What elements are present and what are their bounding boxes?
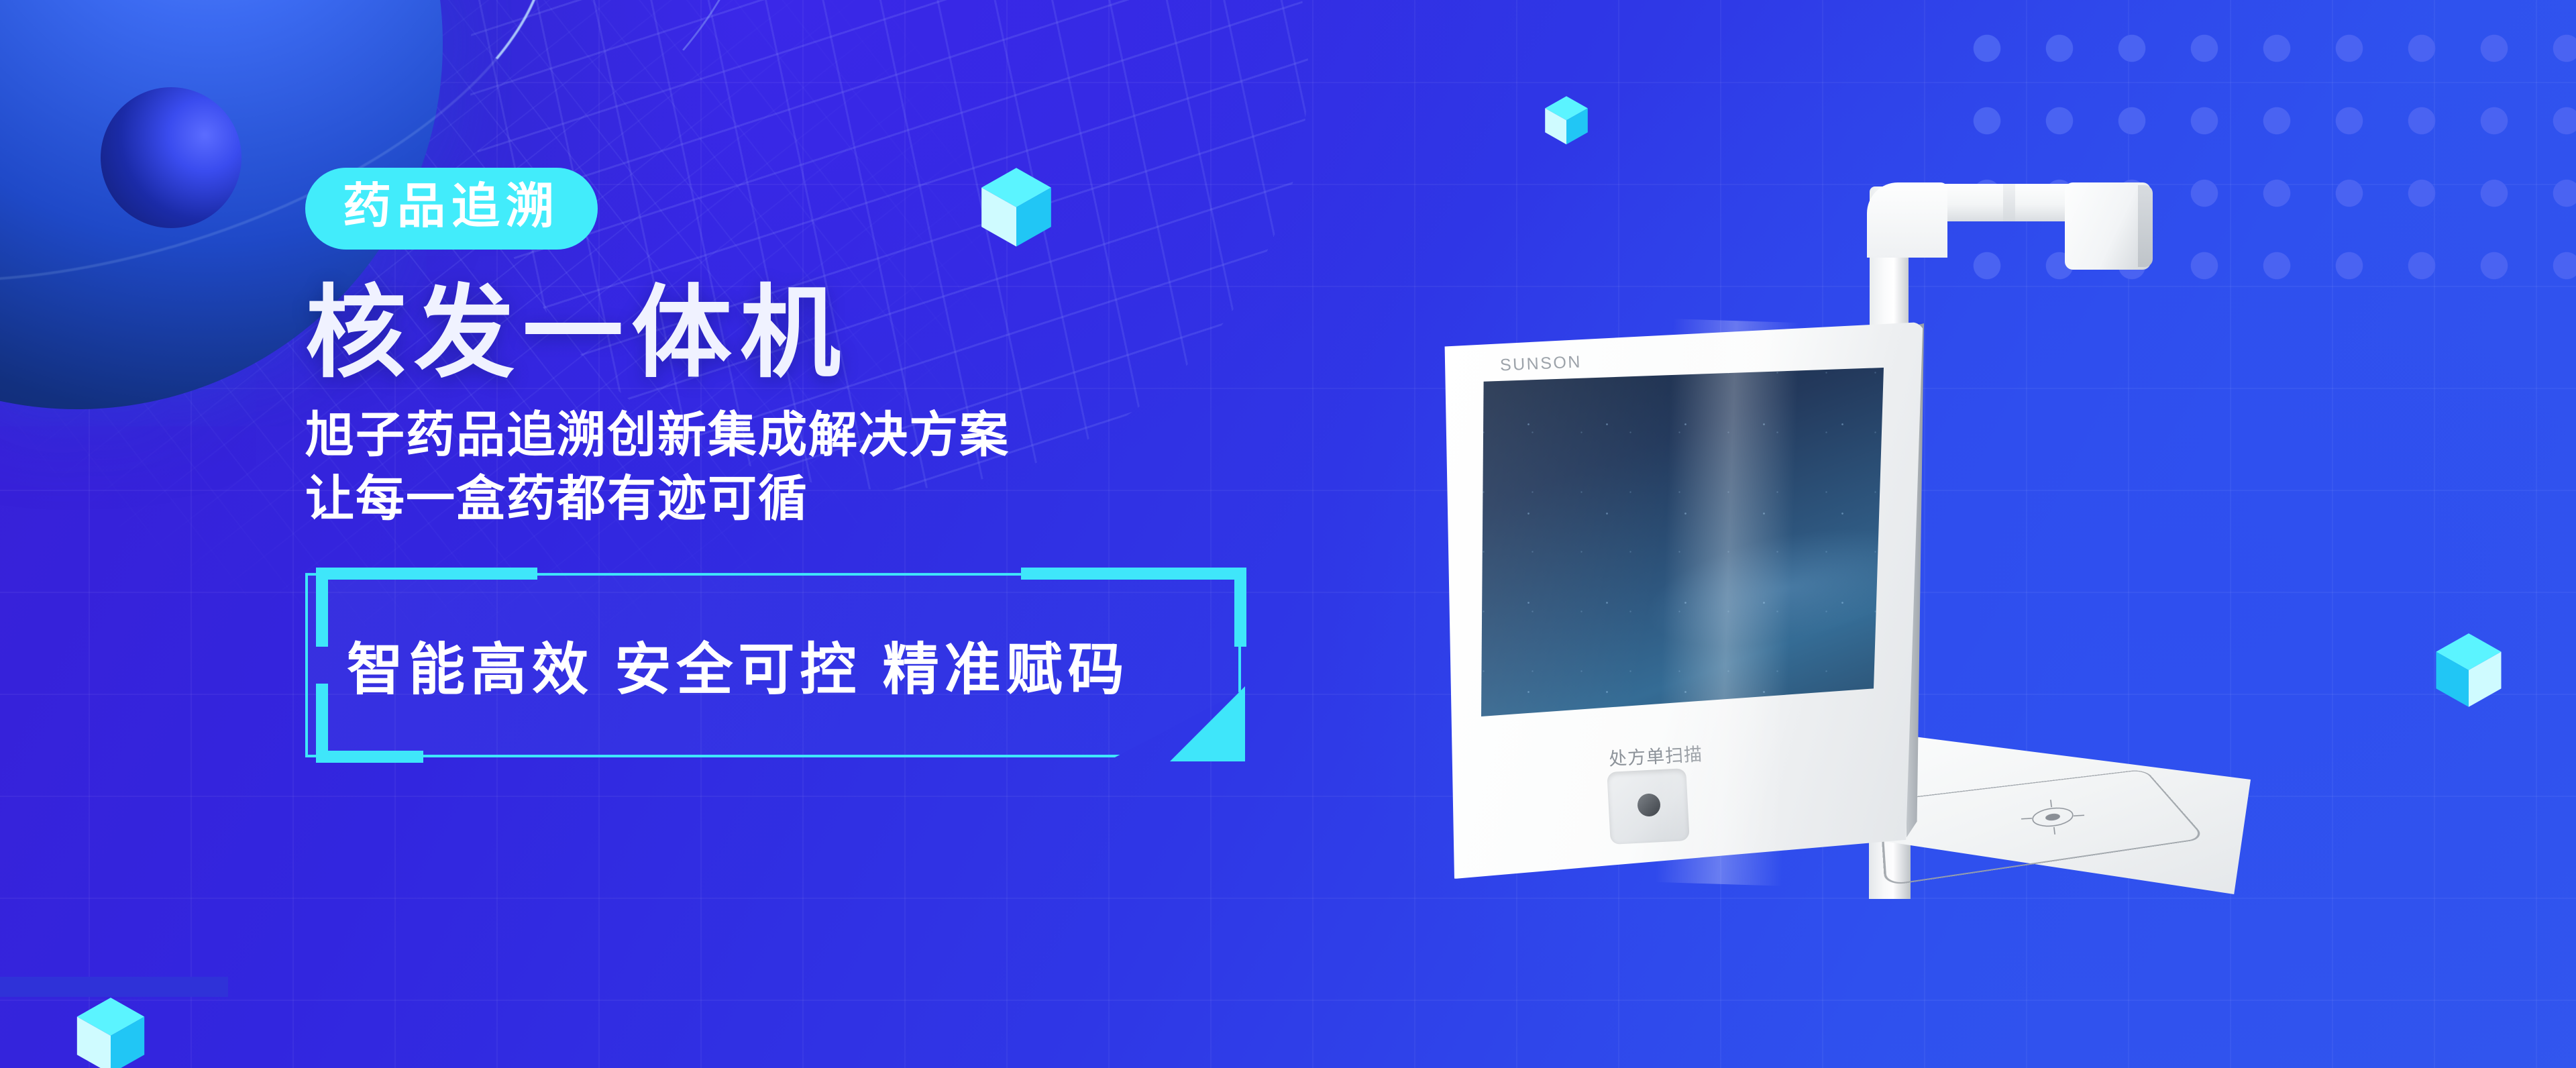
corner-accent-bottom-left-v [316, 684, 328, 763]
promo-banner: 药品追溯 核发一体机 旭子药品追溯创新集成解决方案 让每一盒药都有迹可循 智能高… [0, 0, 2576, 1068]
overhead-arm-joint [2003, 184, 2015, 221]
small-sphere [101, 87, 241, 228]
device-brand-label: SUNSON [1499, 352, 1582, 375]
subtitle-line-1: 旭子药品追溯创新集成解决方案 [305, 404, 1278, 468]
tagline-text: 智能高效 安全可控 精准赋码 [347, 573, 1130, 757]
corner-accent-top-right-v [1234, 568, 1246, 647]
page-title: 核发一体机 [305, 276, 1278, 389]
cube-bottom-left-icon [70, 996, 151, 1068]
camera-head-side [2138, 185, 2153, 267]
category-badge-label: 药品追溯 [343, 181, 560, 232]
scanner-label: 处方单扫描 [1608, 739, 1703, 770]
corner-accent-triangle [1170, 686, 1245, 761]
overhead-arm-elbow [1867, 182, 1947, 258]
monitor-screen [1481, 368, 1884, 716]
cube-top-right-small-icon [1541, 95, 1592, 146]
cube-right-edge-icon [2430, 632, 2508, 710]
category-badge: 药品追溯 [305, 168, 598, 250]
corner-accent-top-left-v [316, 568, 328, 647]
banner-content: 药品追溯 核发一体机 旭子药品追溯创新集成解决方案 让每一盒药都有迹可循 智能高… [305, 168, 1278, 757]
subtitle-line-2: 让每一盒药都有迹可循 [305, 468, 1278, 531]
product-device-illustration: SUNSON 处方单扫描 [1442, 154, 2281, 926]
tagline-box: 智能高效 安全可控 精准赋码 [305, 573, 1241, 757]
accent-bar [0, 977, 228, 997]
